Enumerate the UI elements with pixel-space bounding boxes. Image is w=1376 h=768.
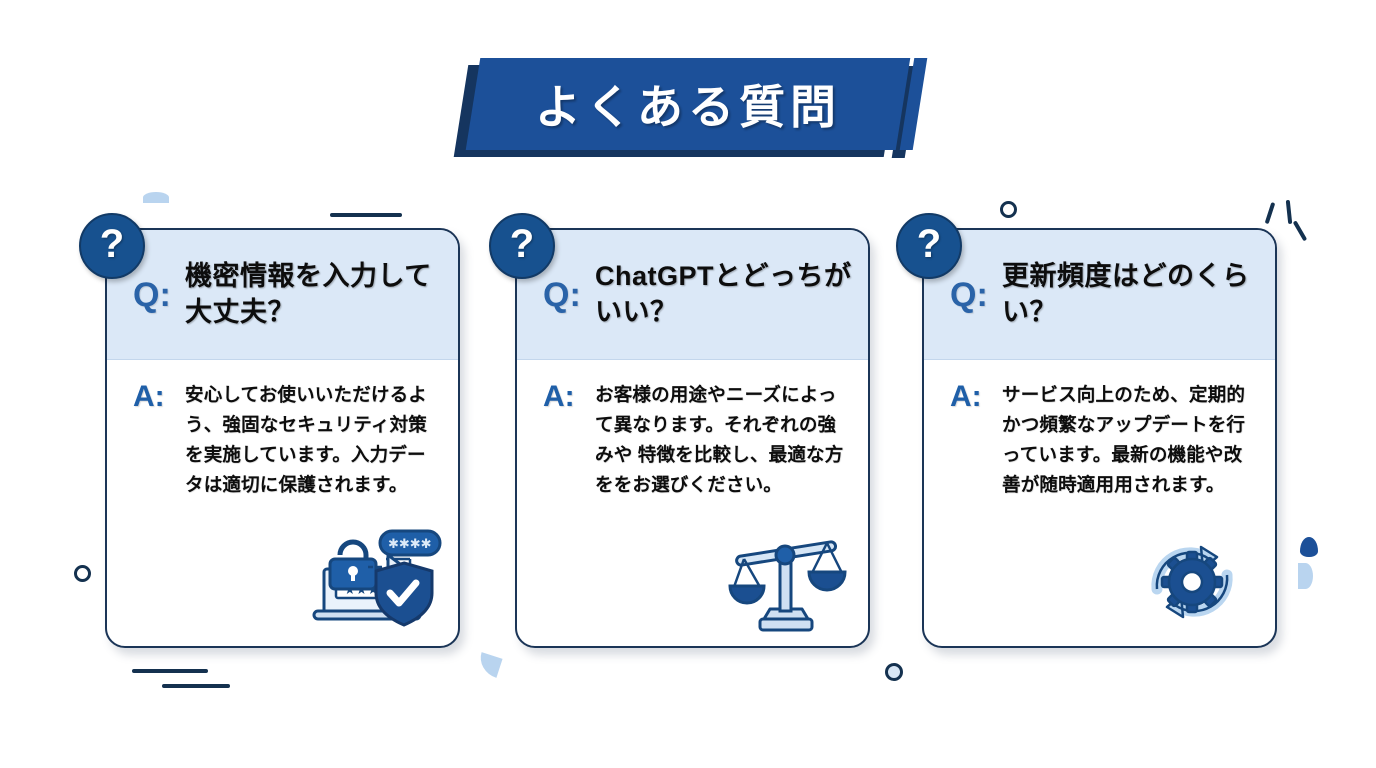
page-title: よくある質問 — [535, 71, 841, 137]
sparkle-line-1 — [1265, 202, 1275, 224]
decor-petal-bottom-center — [475, 652, 502, 678]
decor-dash-bottom-left-2 — [162, 684, 230, 688]
title-banner: よくある質問 — [466, 58, 911, 150]
question-mark-icon-1: ? — [79, 213, 145, 279]
decor-ring-card3-top — [1000, 201, 1017, 218]
page-title-banner: よくある質問 — [455, 55, 925, 165]
balance-scale-icon — [724, 531, 848, 640]
question-mark-icon-3: ? — [896, 213, 962, 279]
faq-card-2[interactable]: Q: ChatGPTとどっちがいい？ A: お客様の用途やニーズによって異なりま… — [515, 228, 870, 648]
faq-question-1: 機密情報を入力して大丈夫？ — [185, 259, 444, 329]
decor-ring-left — [74, 565, 91, 582]
question-label: Q: — [543, 278, 595, 312]
decor-petal-right-dark — [1300, 537, 1318, 557]
security-lock-shield-icon: ★★★ ✱✱✱✱ — [306, 523, 446, 638]
decor-petal-card1-top — [143, 192, 169, 203]
badge-glyph: ? — [510, 224, 534, 264]
faq-slide: よくある質問 Q: 機密情報を入力して大丈夫？ A: 安心してお使いいただけるよ… — [0, 0, 1376, 768]
question-label: Q: — [133, 278, 185, 312]
faq-card-3-body: A: サービス向上のため、定期的かつ頻繁なアップデートを行っています。最新の機能… — [924, 360, 1275, 646]
faq-card-2-body: A: お客様の用途やニーズによって異なります。それぞれの強みや 特徴を比較し、最… — [517, 360, 868, 646]
badge-glyph: ? — [917, 224, 941, 264]
answer-label: A: — [133, 382, 185, 646]
question-label: Q: — [950, 278, 1002, 312]
decor-dash-top-right-1 — [330, 213, 402, 217]
sparkle-line-3 — [1293, 221, 1307, 242]
faq-card-3[interactable]: Q: 更新頻度はどのくらい？ A: サービス向上のため、定期的かつ頻繁なアップデ… — [922, 228, 1277, 648]
svg-text:✱✱✱✱: ✱✱✱✱ — [388, 537, 432, 552]
faq-question-2: ChatGPTとどっちがいい？ — [595, 259, 854, 329]
badge-glyph: ? — [100, 224, 124, 264]
faq-card-1-body: A: 安心してお使いいただけるよう、強固なセキュリティ対策を実施しています。入力… — [107, 360, 458, 646]
sparkle-line-2 — [1286, 200, 1292, 224]
answer-label: A: — [950, 382, 1002, 646]
decor-petal-right-light — [1298, 563, 1313, 589]
faq-card-2-header: Q: ChatGPTとどっちがいい？ — [517, 230, 868, 360]
faq-card-1-header: Q: 機密情報を入力して大丈夫？ — [107, 230, 458, 360]
faq-card-1[interactable]: Q: 機密情報を入力して大丈夫？ A: 安心してお使いいただけるよう、強固なセキ… — [105, 228, 460, 648]
question-mark-icon-2: ? — [489, 213, 555, 279]
faq-question-3: 更新頻度はどのくらい？ — [1002, 259, 1261, 329]
decor-dot-bottom-center — [885, 663, 903, 681]
faq-card-3-header: Q: 更新頻度はどのくらい？ — [924, 230, 1275, 360]
answer-label: A: — [543, 382, 595, 646]
gear-refresh-icon — [1139, 531, 1247, 636]
decor-dash-bottom-left-1 — [132, 669, 208, 673]
